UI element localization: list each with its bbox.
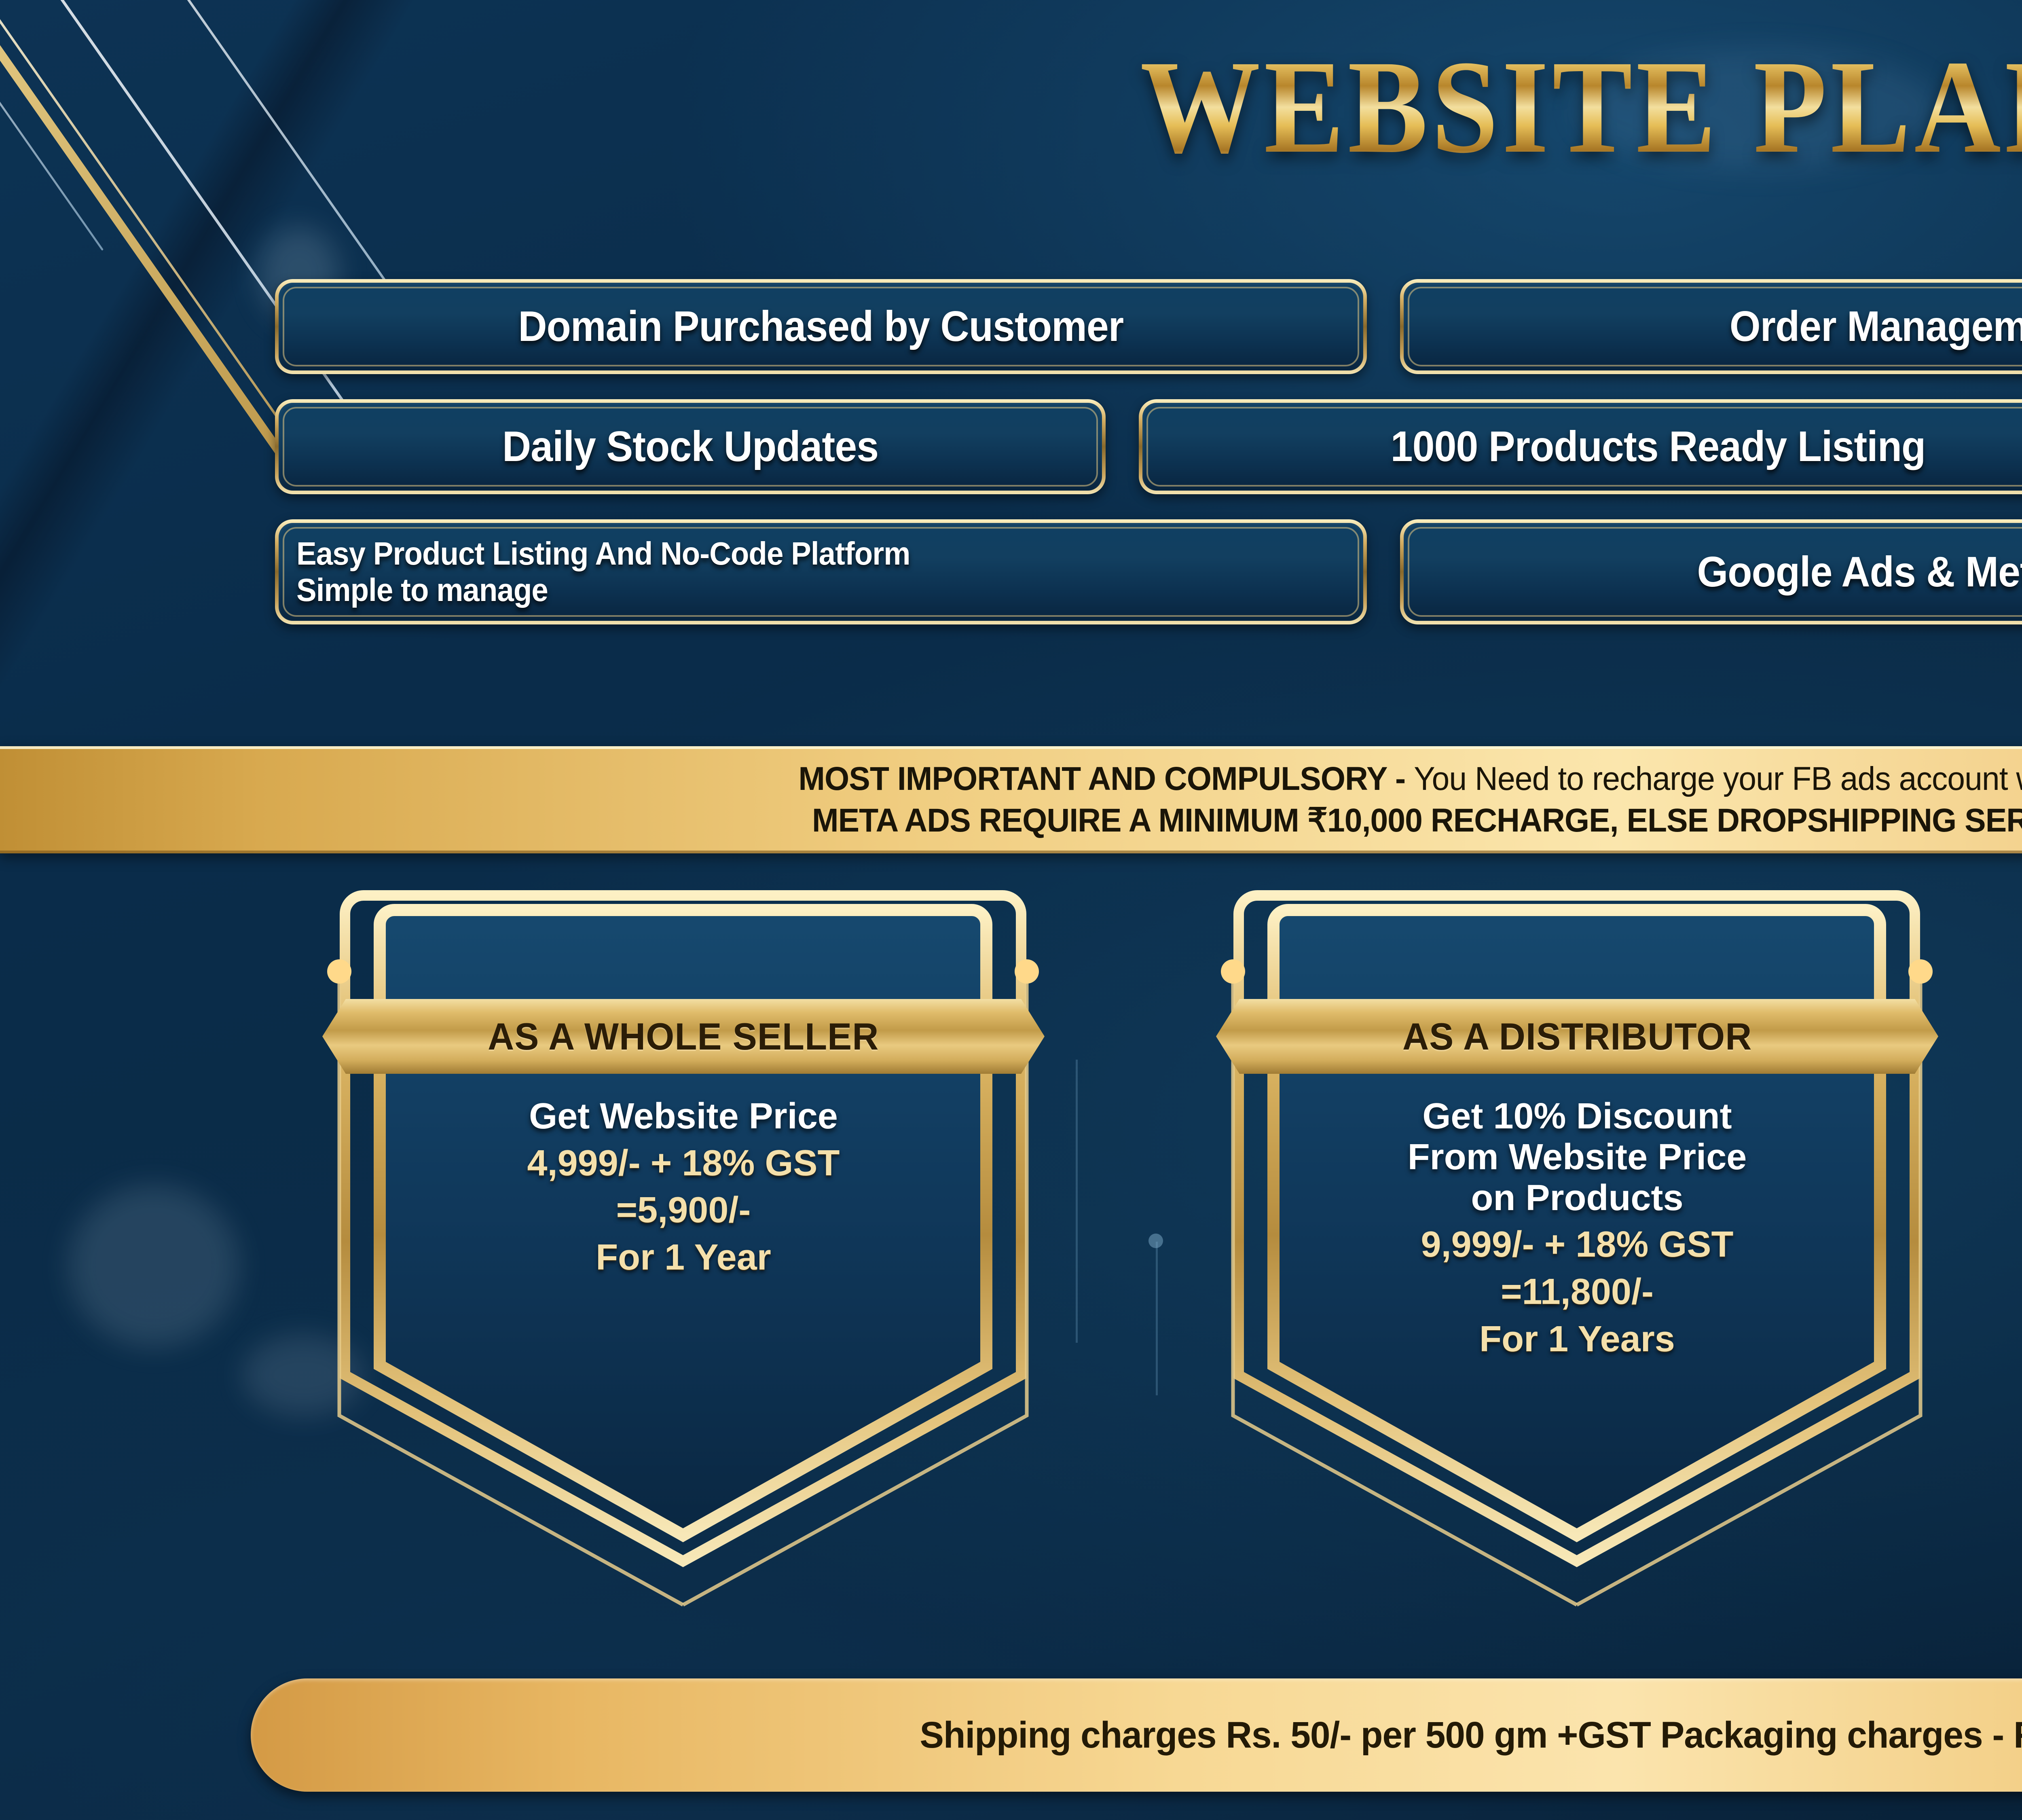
feature-list: Domain Purchased by Customer Order Manag… xyxy=(275,279,2022,650)
feature-google-ads-meta-pixel[interactable]: Google Ads & Meta Pixel Integration xyxy=(1400,519,2022,624)
shipping-charges-bar: Shipping charges Rs. 50/- per 500 gm +GS… xyxy=(251,1678,2022,1792)
feature-label: Daily Stock Updates xyxy=(502,425,878,468)
plan-description-line: Get Website Price xyxy=(382,1096,985,1137)
feature-1000-products-ready-listing[interactable]: 1000 Products Ready Listing xyxy=(1139,399,2022,494)
plan-ribbon-label: AS A WHOLE SELLER xyxy=(488,1015,879,1058)
page-title: WEBSITE PLAN xyxy=(162,40,2022,174)
notice-line-2: META ADS REQUIRE A MINIMUM ₹10,000 RECHA… xyxy=(812,801,2022,840)
plan-ribbon-label: AS A DISTRIBUTOR xyxy=(1402,1015,1752,1058)
plan-duration: For 1 Years xyxy=(1276,1318,1878,1360)
notice-line-1-bold: MOST IMPORTANT AND COMPULSORY - xyxy=(798,760,1414,797)
plan-price-line: 4,999/- + 18% GST xyxy=(382,1143,985,1184)
shipping-charges-label: Shipping charges Rs. 50/- per 500 gm +GS… xyxy=(920,1714,2022,1757)
glow-pin xyxy=(1221,959,1245,984)
plan-ribbon: AS A DISTRIBUTOR xyxy=(1216,999,1938,1074)
feature-daily-stock-updates[interactable]: Daily Stock Updates xyxy=(275,399,1106,494)
feature-label: Order Management Panel xyxy=(1459,305,2022,348)
plan-price-total: =5,900/- xyxy=(382,1189,985,1231)
plan-description-line: on Products xyxy=(1276,1178,1878,1219)
glow-pin xyxy=(1015,959,1039,984)
feature-order-management[interactable]: Order Management Panel No MonthlyHosting… xyxy=(1400,279,2022,374)
plan-price-total: =11,800/- xyxy=(1276,1271,1878,1313)
feature-label: Domain Purchased by Customer xyxy=(518,305,1124,348)
plan-content: Get 10% Discount From Website Price on P… xyxy=(1276,1096,1878,1360)
feature-row: Easy Product Listing And No-Code Platfor… xyxy=(275,519,2022,624)
notice-line-1: MOST IMPORTANT AND COMPULSORY - You Need… xyxy=(798,760,2022,798)
notice-line-1-rest: You Need to recharge your FB ads account… xyxy=(1414,760,2022,797)
website-plan-poster: WEBSITE PLAN Domain Purchased by Custome… xyxy=(0,0,2022,1820)
plan-description-line: From Website Price xyxy=(1276,1137,1878,1178)
plan-description-line: Get 10% Discount xyxy=(1276,1096,1878,1137)
plan-price-line: 9,999/- + 18% GST xyxy=(1276,1224,1878,1266)
feature-label: 1000 Products Ready Listing xyxy=(1391,425,1926,468)
plan-content: Get Website Price 4,999/- + 18% GST =5,9… xyxy=(382,1096,985,1278)
feature-domain-purchased[interactable]: Domain Purchased by Customer xyxy=(275,279,1367,374)
feature-label: Easy Product Listing And No-Code Platfor… xyxy=(296,535,910,608)
glow-pin xyxy=(1908,959,1933,984)
feature-label: Google Ads & Meta Pixel Integration xyxy=(1697,550,2022,594)
plan-ribbon: AS A WHOLE SELLER xyxy=(322,999,1045,1074)
diagonal-line-white-2 xyxy=(0,0,104,251)
glow-pin xyxy=(327,959,351,984)
feature-easy-product-listing[interactable]: Easy Product Listing And No-Code Platfor… xyxy=(275,519,1367,624)
feature-row: Domain Purchased by Customer Order Manag… xyxy=(275,279,2022,374)
plan-duration: For 1 Year xyxy=(382,1237,985,1278)
pricing-plans: AS A WHOLE SELLER Get Website Price 4,99… xyxy=(0,882,2022,1650)
compulsory-notice-banner: MOST IMPORTANT AND COMPULSORY - You Need… xyxy=(0,746,2022,853)
feature-row: Daily Stock Updates 1000 Products Ready … xyxy=(275,399,2022,494)
